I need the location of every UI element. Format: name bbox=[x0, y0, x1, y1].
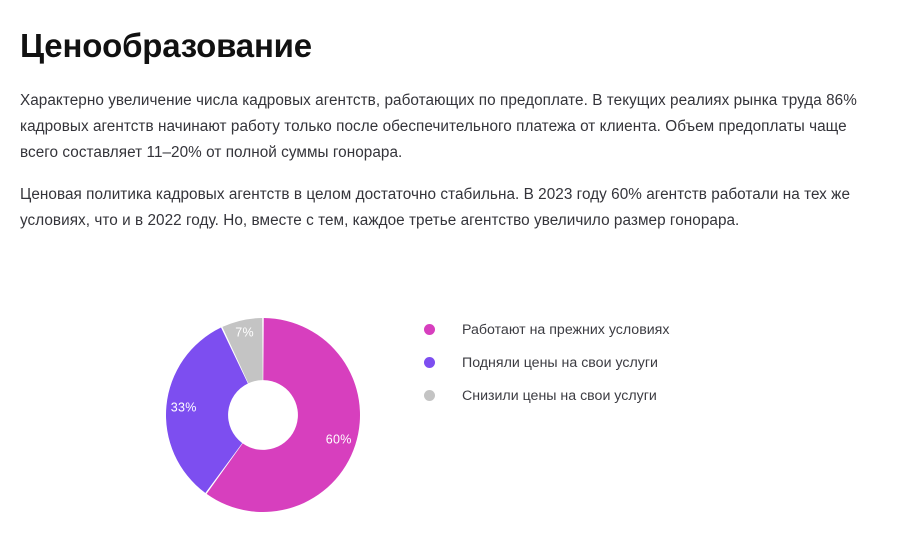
donut-slice-value-label: 33% bbox=[171, 401, 197, 415]
legend-item-label: Снизили цены на свои услуги bbox=[462, 387, 657, 405]
page-title: Ценообразование bbox=[20, 24, 312, 68]
donut-slice-value-label: 7% bbox=[235, 325, 254, 339]
donut-svg: 60%33%7% bbox=[160, 312, 366, 518]
body-paragraph: Ценовая политика кадровых агентств в цел… bbox=[20, 182, 865, 234]
legend-item-label: Работают на прежних условиях bbox=[462, 321, 669, 339]
body-paragraph: Характерно увеличение числа кадровых аге… bbox=[20, 88, 865, 166]
legend-color-dot-icon bbox=[424, 357, 435, 368]
donut-slice-value-label: 60% bbox=[326, 433, 352, 447]
legend-item[interactable]: Снизили цены на свои услуги bbox=[424, 379, 754, 412]
paragraph-block-2: Ценовая политика кадровых агентств в цел… bbox=[20, 182, 865, 234]
legend-item[interactable]: Работают на прежних условиях bbox=[424, 313, 754, 346]
legend-item[interactable]: Подняли цены на свои услуги bbox=[424, 346, 754, 379]
paragraph-block-1: Характерно увеличение числа кадровых аге… bbox=[20, 88, 865, 166]
legend-color-dot-icon bbox=[424, 390, 435, 401]
pricing-donut-chart: 60%33%7% Работают на прежних условиях По… bbox=[0, 296, 900, 537]
chart-legend: Работают на прежних условиях Подняли цен… bbox=[424, 313, 754, 412]
legend-color-dot-icon bbox=[424, 324, 435, 335]
page-root: Ценообразование Характерно увеличение чи… bbox=[0, 0, 900, 537]
legend-item-label: Подняли цены на свои услуги bbox=[462, 354, 658, 372]
donut-chart-graphic: 60%33%7% bbox=[160, 312, 366, 518]
